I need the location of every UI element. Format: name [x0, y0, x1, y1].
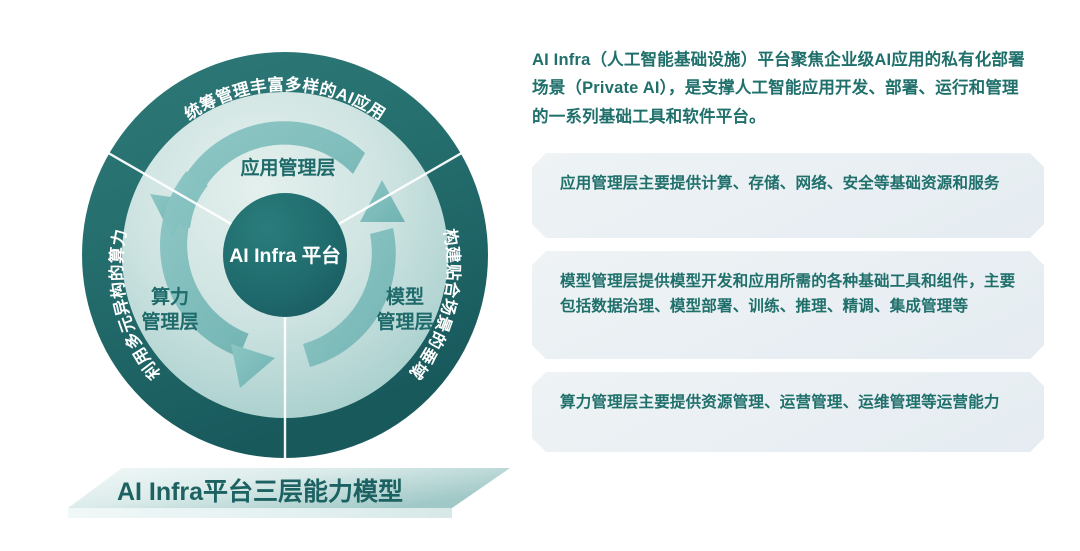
- plinth-title: AI Infra平台三层能力模型: [117, 477, 403, 506]
- card-compute-text: 算力管理层主要提供资源管理、运营管理、运维管理等运营能力: [560, 390, 1018, 415]
- card-application-text: 应用管理层主要提供计算、存储、网络、安全等基础资源和服务: [560, 171, 1018, 196]
- core-label: AI Infra 平台: [229, 244, 341, 267]
- card-model-management: 模型管理层提供模型开发和应用所需的各种基础工具和组件，主要包括数据治理、模型部署…: [532, 251, 1044, 359]
- right-content-column: AI Infra（人工智能基础设施）平台聚焦企业级AI应用的私有化部署场景（Pr…: [532, 46, 1044, 452]
- layer-label-compute-line1: 算力: [151, 285, 189, 308]
- card-application-management: 应用管理层主要提供计算、存储、网络、安全等基础资源和服务: [532, 153, 1044, 238]
- layer-label-application: 应用管理层: [240, 156, 335, 179]
- intro-paragraph: AI Infra（人工智能基础设施）平台聚焦企业级AI应用的私有化部署场景（Pr…: [532, 46, 1032, 131]
- card-compute-management: 算力管理层主要提供资源管理、运营管理、运维管理等运营能力: [532, 372, 1044, 452]
- card-model-text: 模型管理层提供模型开发和应用所需的各种基础工具和组件，主要包括数据治理、模型部署…: [560, 269, 1018, 319]
- layer-label-model-line1: 模型: [386, 285, 424, 308]
- layer-label-model-line2: 管理层: [376, 310, 433, 333]
- layer-label-compute-line2: 管理层: [141, 310, 198, 333]
- capability-cards: 应用管理层主要提供计算、存储、网络、安全等基础资源和服务 模型管理层提供模型开发…: [532, 153, 1044, 452]
- three-layer-capability-diagram: AI Infra 平台 应用管理层 模型 管理层 算力 管理层 统筹管理丰富多样…: [60, 22, 510, 532]
- title-plinth: AI Infra平台三层能力模型: [68, 468, 510, 518]
- core-circle: AI Infra 平台: [223, 193, 347, 317]
- infographic-root: AI Infra 平台 应用管理层 模型 管理层 算力 管理层 统筹管理丰富多样…: [0, 0, 1080, 551]
